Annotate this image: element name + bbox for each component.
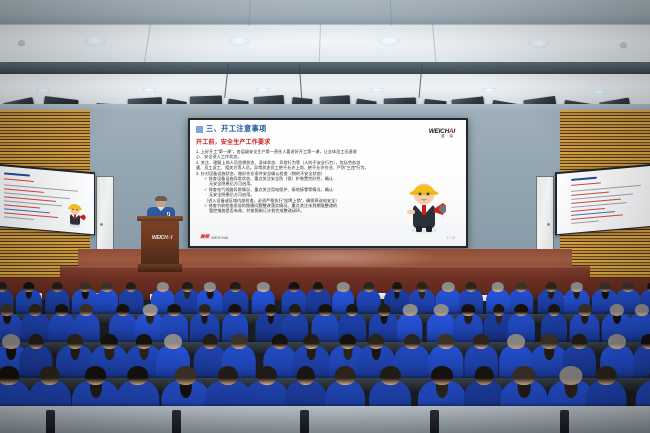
audience-member-head [623, 282, 635, 292]
ceiling-strip-light [370, 88, 384, 92]
door-knob-icon [100, 223, 103, 226]
audience-member-head [578, 304, 592, 316]
door-knob-icon [547, 223, 550, 226]
audience-seating-area [0, 278, 650, 433]
audience-member-head [265, 304, 276, 316]
audience-member-head [289, 304, 301, 316]
audience-member-head [2, 334, 20, 349]
audience-member-head [257, 282, 269, 292]
seat-leg [46, 410, 55, 433]
audience-member-head [431, 366, 453, 385]
slide-surface: WEICHAI 潍 柴 三、开工注意事项 开工前，安全生产工作要求 1. 上好开… [190, 120, 466, 246]
audience-member-head [515, 304, 529, 316]
audience-member-head [304, 334, 319, 349]
audience-member-head [380, 366, 400, 385]
audience-member-head [508, 334, 526, 349]
audience-member-head [272, 334, 288, 349]
side-display-right [555, 164, 650, 236]
audience-member-head [515, 282, 527, 292]
audience-member-head [175, 366, 197, 385]
ceiling-downlight [84, 36, 106, 46]
audience-member-head [513, 366, 536, 385]
seat-leg [430, 410, 439, 433]
audience-member-head [116, 304, 129, 316]
seat-back-row-front [0, 406, 650, 433]
side-display-left [0, 164, 95, 236]
audience-member-head [473, 334, 489, 349]
audience-member-head [572, 334, 587, 349]
audience-member-head [288, 282, 299, 292]
ceiling-upper-plane [0, 0, 650, 26]
audience-member-head [368, 334, 384, 349]
audience-member-head [570, 282, 582, 292]
slide-footer-mark: 潍柴 [200, 234, 209, 240]
audience-member-head [257, 366, 277, 385]
slide-heading-row: 三、开工注意事项 [196, 125, 460, 133]
audience-member-head [548, 304, 560, 316]
slide-subheading: 开工前，安全生产工作要求 [196, 137, 460, 146]
audience-member-head [461, 304, 474, 316]
audience-member-head [610, 304, 624, 316]
audience-member-head [23, 282, 35, 292]
audience-member-head [559, 366, 582, 385]
auditorium-photo: WEICHAI 潍 柴 三、开工注意事项 开工前，安全生产工作要求 1. 上好开… [0, 0, 650, 433]
audience-member-head [52, 282, 62, 292]
lectern-base [138, 264, 182, 272]
audience-member-head [0, 304, 14, 316]
audience-member-head [168, 304, 181, 316]
audience-member-head [546, 282, 557, 292]
audience-member-head [0, 366, 19, 385]
seat-leg [172, 410, 181, 433]
lectern-logo: WEICHAI [149, 235, 175, 241]
audience-member-head [39, 366, 60, 385]
safety-mascot-icon [64, 199, 86, 229]
audience-member-head [204, 282, 216, 292]
audience-member-head [442, 282, 454, 292]
audience-member-head [182, 282, 192, 292]
audience-member-head [404, 334, 420, 349]
audience-member-head [67, 334, 83, 349]
ceiling-downlight [378, 36, 400, 46]
audience-member-head [85, 366, 107, 385]
audience-member-head [466, 282, 477, 292]
audience-member-head [55, 304, 69, 316]
audience-member-head [392, 282, 402, 292]
side-display-left-content [0, 165, 94, 233]
audience-member-head [475, 366, 494, 385]
slide-heading: 三、开工注意事项 [206, 125, 267, 133]
ceiling-strip-light [142, 88, 156, 92]
audience-member-head [126, 282, 136, 292]
slide-footer: 潍柴 WEICHAI [200, 234, 228, 240]
smoke-detector-icon [18, 40, 25, 45]
ceiling-strip-light [36, 88, 50, 92]
audience-member-head [143, 304, 158, 316]
speaker-hair [155, 196, 167, 201]
audience-member-head [101, 282, 113, 292]
heading-accent-bar [196, 126, 203, 133]
ceiling-strip-light [256, 88, 270, 92]
ceiling-downlight [528, 38, 550, 48]
lectern: WEICHAI [139, 216, 181, 272]
ceiling-strip-light [482, 88, 496, 92]
audience-member-head [318, 304, 331, 316]
audience-member-head [437, 334, 454, 349]
audience-member-head [314, 282, 324, 292]
main-projection-screen: WEICHAI 潍 柴 三、开工注意事项 开工前，安全生产工作要求 1. 上好开… [188, 118, 468, 248]
audience-member-head [29, 334, 44, 349]
seat-leg [560, 410, 569, 433]
audience-member-head [101, 334, 118, 349]
audience-member-head [165, 334, 183, 349]
audience-member-head [417, 282, 428, 292]
audience-member-head [635, 304, 649, 316]
audience-member-head [339, 334, 355, 349]
seat-leg [300, 410, 309, 433]
audience-member-head [79, 304, 93, 316]
audience-member-head [136, 334, 152, 349]
audience-member-head [403, 304, 418, 316]
audience-member-head [641, 334, 650, 349]
slide-footer-text: WEICHAI [211, 235, 228, 240]
audience-member-head [608, 334, 626, 349]
slide-page-number: 1 / 15 [447, 236, 455, 240]
audience-member-head [203, 334, 218, 349]
audience-member-head [228, 304, 241, 316]
ceiling-downlight [228, 36, 250, 46]
ceiling-seam [0, 24, 650, 25]
audience-member-head [157, 282, 169, 292]
audience-member-head [363, 282, 374, 292]
lectern-body: WEICHAI [141, 221, 179, 265]
audience-member-head [79, 282, 91, 292]
audience-member-head [599, 282, 611, 292]
audience-member-head [218, 366, 238, 385]
audience-member-head [296, 366, 315, 385]
weichai-logo: WEICHAI 潍 柴 [429, 129, 455, 139]
audience-member-head [335, 366, 356, 385]
smoke-detector-icon [620, 42, 627, 47]
audience-member-head [346, 304, 358, 316]
audience-member-head [493, 304, 504, 316]
audience-member-head [378, 304, 390, 316]
safety-mascot-icon [402, 178, 446, 234]
audience-member-head [198, 304, 211, 316]
audience-member-head [127, 366, 149, 385]
audience-member-head [230, 282, 240, 292]
audience-member-head [230, 334, 247, 349]
audience-member-head [29, 304, 42, 316]
audience-member-head [596, 366, 617, 385]
ceiling-strip-light [592, 90, 606, 94]
side-display-right-content [557, 165, 650, 233]
audience-member-head [337, 282, 350, 292]
audience-member-head [434, 304, 449, 316]
audience-member-head [492, 282, 504, 292]
audience-member-head [540, 334, 557, 349]
